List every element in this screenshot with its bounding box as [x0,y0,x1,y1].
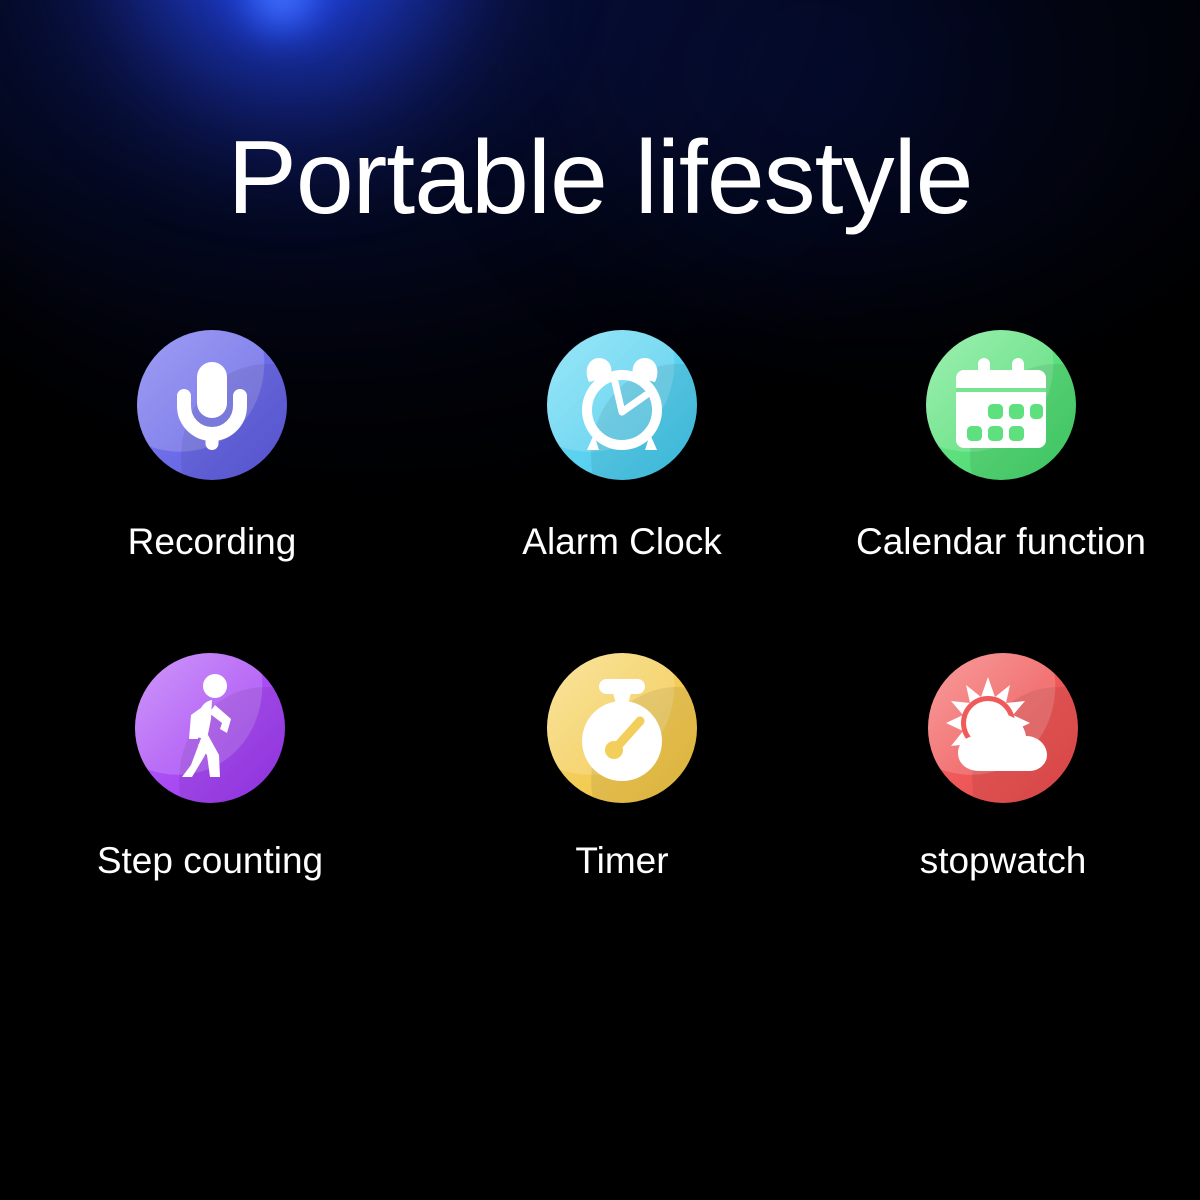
alarm-clock-badge[interactable] [547,330,697,480]
alarm-clock-icon [547,330,697,480]
feature-item-alarm-clock[interactable]: Alarm Clock [422,330,822,563]
feature-label: Calendar function [856,522,1146,563]
microphone-badge[interactable] [137,330,287,480]
feature-label: Recording [128,522,297,563]
sun-cloud-badge[interactable] [928,653,1078,803]
feature-row-2: Step counting [0,653,1200,882]
feature-item-stopwatch[interactable]: stopwatch [803,653,1200,882]
feature-label: stopwatch [920,841,1087,882]
sun-behind-cloud-icon [928,653,1078,803]
calendar-badge[interactable] [926,330,1076,480]
stopwatch-timer-icon [547,653,697,803]
timer-badge[interactable] [547,653,697,803]
feature-label: Alarm Clock [522,522,721,563]
feature-row-1: Recording [0,330,1200,563]
feature-item-calendar[interactable]: Calendar function [801,330,1200,563]
feature-item-timer[interactable]: Timer [422,653,822,882]
feature-grid: Recording [0,330,1200,881]
calendar-icon [926,330,1076,480]
feature-label: Step counting [97,841,323,882]
background-glow-core [228,0,336,38]
feature-label: Timer [575,841,668,882]
page-title: Portable lifestyle [0,126,1200,230]
walking-person-badge[interactable] [135,653,285,803]
feature-poster: Portable lifestyle Recording [0,0,1200,1200]
microphone-icon [137,330,287,480]
feature-item-step-counting[interactable]: Step counting [10,653,410,882]
walking-person-icon [135,653,285,803]
feature-item-recording[interactable]: Recording [12,330,412,563]
